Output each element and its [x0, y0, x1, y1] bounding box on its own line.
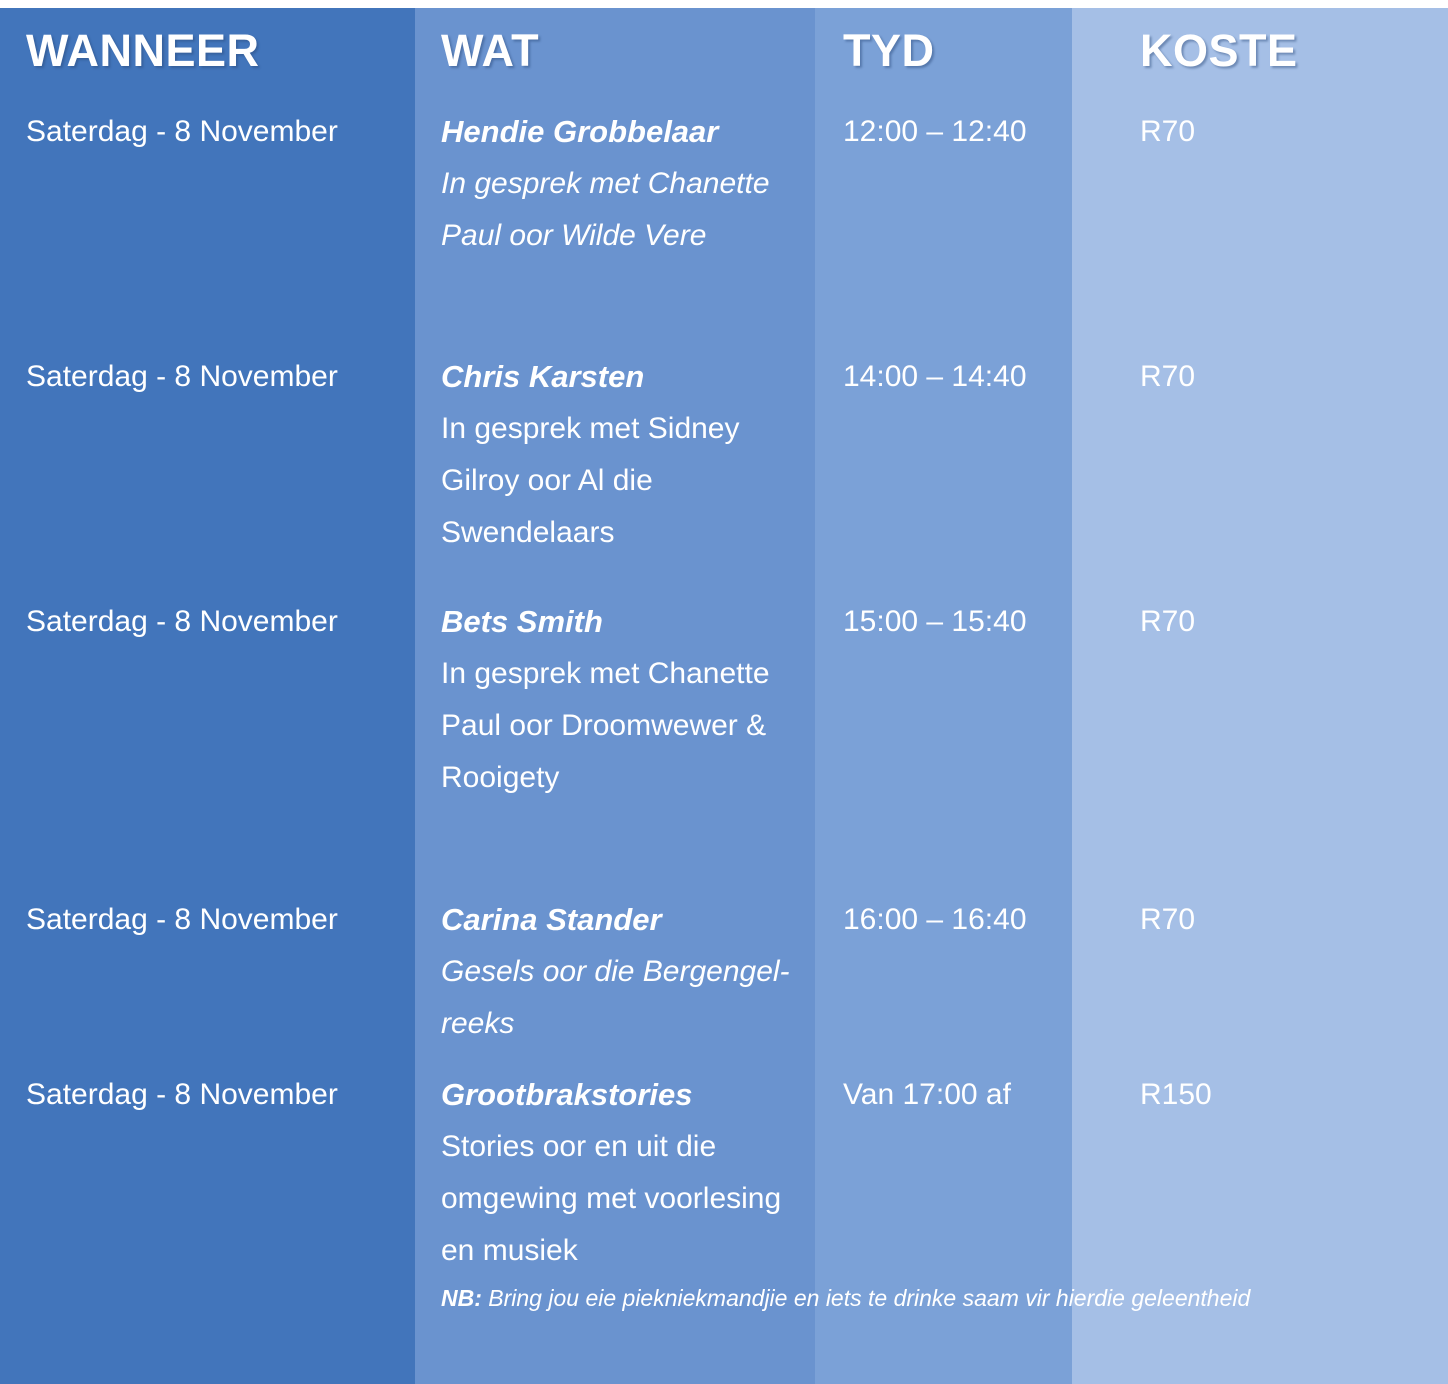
header-cell-wat: WAT — [415, 8, 815, 76]
row-cell-wat: Chris Karsten In gesprek met Sidney Gilr… — [415, 341, 815, 559]
row-cost: R70 — [1140, 596, 1438, 648]
row-date: Saterdag - 8 November — [26, 351, 405, 403]
row-cell-wanneer: Saterdag - 8 November — [0, 96, 415, 158]
row-cell-tyd: 15:00 – 15:40 — [815, 586, 1072, 648]
row-cell-wanneer: Saterdag - 8 November — [0, 884, 415, 946]
header-label-wat: WAT — [441, 26, 801, 76]
row-cell-wat: Carina Stander Gesels oor die Bergengel-… — [415, 884, 815, 1050]
table-row: Saterdag - 8 November Bets Smith In gesp… — [0, 586, 1448, 884]
row-cost: R70 — [1140, 894, 1438, 946]
header-cell-wanneer: WANNEER — [0, 8, 415, 76]
row-time: 16:00 – 16:40 — [843, 894, 1062, 946]
row-cell-tyd: 12:00 – 12:40 — [815, 96, 1072, 158]
row-description: In gesprek met Chanette Paul oor Wilde V… — [441, 158, 801, 262]
header-cell-tyd: TYD — [815, 8, 1072, 76]
row-cell-koste: R70 — [1072, 884, 1448, 946]
row-cell-tyd: 16:00 – 16:40 — [815, 884, 1072, 946]
row-note-text: Bring jou eie piekniekmandjie en iets te… — [482, 1285, 1250, 1311]
row-title: Carina Stander — [441, 894, 801, 946]
row-cell-wanneer: Saterdag - 8 November — [0, 586, 415, 648]
row-cell-wanneer: Saterdag - 8 November — [0, 1059, 415, 1121]
row-cell-wat: Grootbrakstories Stories oor en uit die … — [415, 1059, 815, 1319]
row-cell-wat: Hendie Grobbelaar In gesprek met Chanett… — [415, 96, 815, 262]
header-label-koste: KOSTE — [1140, 26, 1438, 76]
row-cell-wat: Bets Smith In gesprek met Chanette Paul … — [415, 586, 815, 804]
row-title: Chris Karsten — [441, 351, 801, 403]
row-note: NB: Bring jou eie piekniekmandjie en iet… — [441, 1277, 1081, 1319]
row-description: In gesprek met Chanette Paul oor Droomwe… — [441, 648, 801, 804]
row-date: Saterdag - 8 November — [26, 1069, 405, 1121]
row-time: Van 17:00 af — [843, 1069, 1062, 1121]
row-cell-koste: R70 — [1072, 586, 1448, 648]
row-cost: R70 — [1140, 351, 1438, 403]
row-cell-wanneer: Saterdag - 8 November — [0, 341, 415, 403]
header-label-tyd: TYD — [843, 26, 1062, 76]
row-description: Gesels oor die Bergengel-reeks — [441, 946, 801, 1050]
row-title: Grootbrakstories — [441, 1069, 801, 1121]
header-cell-koste: KOSTE — [1072, 8, 1448, 76]
table-row: Saterdag - 8 November Chris Karsten In g… — [0, 341, 1448, 586]
row-title: Bets Smith — [441, 596, 801, 648]
row-cell-koste: R70 — [1072, 96, 1448, 158]
header-label-wanneer: WANNEER — [26, 26, 405, 76]
row-description: Stories oor en uit die omgewing met voor… — [441, 1121, 801, 1277]
row-date: Saterdag - 8 November — [26, 596, 405, 648]
row-description: In gesprek met Sidney Gilroy oor Al die … — [441, 403, 801, 559]
row-time: 15:00 – 15:40 — [843, 596, 1062, 648]
row-date: Saterdag - 8 November — [26, 894, 405, 946]
schedule-table-page: WANNEER WAT TYD KOSTE Saterdag - 8 Novem… — [0, 0, 1448, 1384]
row-time: 14:00 – 14:40 — [843, 351, 1062, 403]
row-cell-tyd: Van 17:00 af — [815, 1059, 1072, 1121]
table-row: Saterdag - 8 November Grootbrakstories S… — [0, 1059, 1448, 1364]
row-cost: R150 — [1140, 1069, 1438, 1121]
row-note-wrapper: NB: Bring jou eie piekniekmandjie en iet… — [441, 1277, 1081, 1319]
row-cell-koste: R150 — [1072, 1059, 1448, 1121]
row-cell-koste: R70 — [1072, 341, 1448, 403]
row-cost: R70 — [1140, 106, 1438, 158]
row-time: 12:00 – 12:40 — [843, 106, 1062, 158]
row-note-label: NB: — [441, 1285, 482, 1311]
row-title: Hendie Grobbelaar — [441, 106, 801, 158]
schedule-table: WANNEER WAT TYD KOSTE Saterdag - 8 Novem… — [0, 8, 1448, 1364]
table-header-row: WANNEER WAT TYD KOSTE — [0, 8, 1448, 96]
table-row: Saterdag - 8 November Carina Stander Ges… — [0, 884, 1448, 1059]
table-row: Saterdag - 8 November Hendie Grobbelaar … — [0, 96, 1448, 341]
row-cell-tyd: 14:00 – 14:40 — [815, 341, 1072, 403]
row-date: Saterdag - 8 November — [26, 106, 405, 158]
